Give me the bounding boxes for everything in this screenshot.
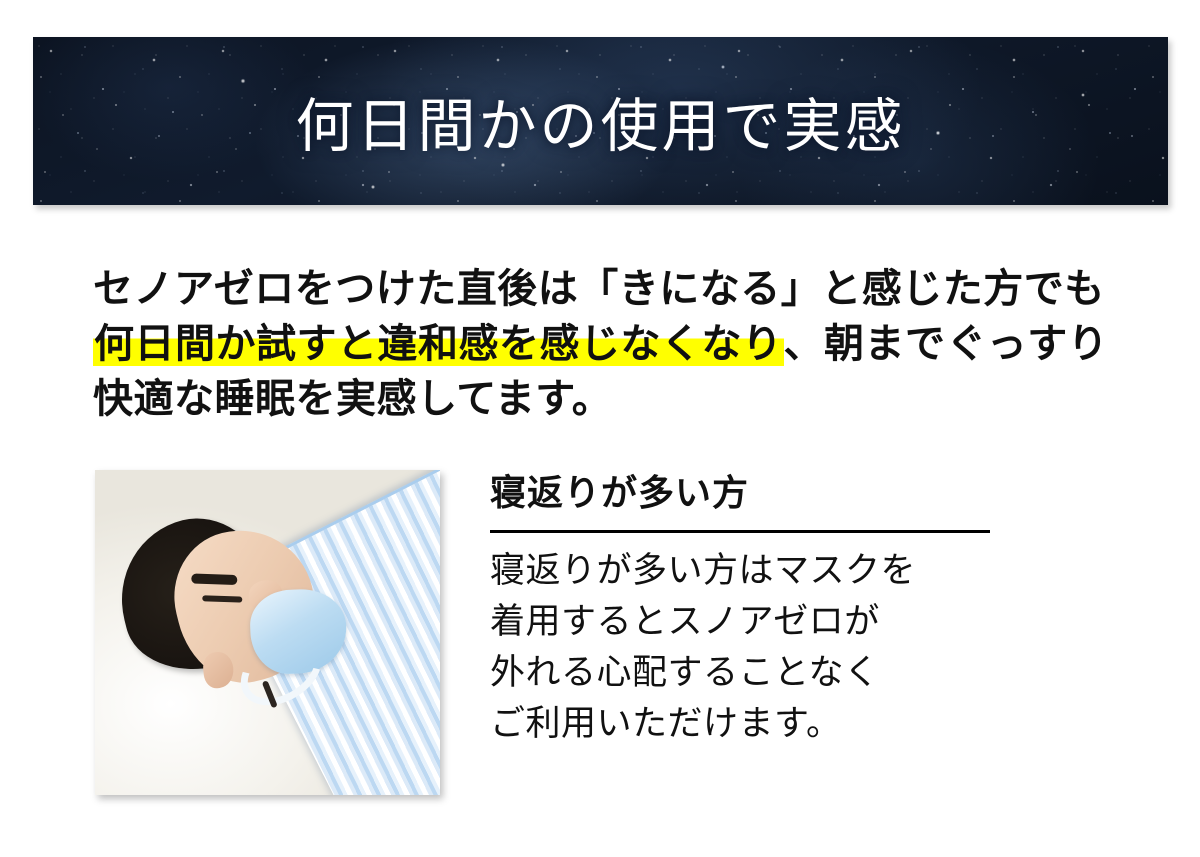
header-banner: 何日間かの使用で実感 [33, 37, 1168, 205]
intro-paragraph: セノアゼロをつけた直後は「きになる」と感じた方でも 何日間か試すと違和感を感じな… [93, 262, 1123, 427]
intro-line-2-rest: 、朝までぐっすり [784, 322, 1109, 366]
intro-line-2: 何日間か試すと違和感を感じなくなり、朝までぐっすり [93, 317, 1123, 372]
right-body-line-2: 着用するとスノアゼロが [490, 596, 1000, 647]
eyebrow [191, 573, 237, 585]
right-body-line-1: 寝返りが多い方はマスクを [490, 545, 1000, 596]
section-heading: 寝返りが多い方 [490, 470, 1000, 516]
right-body-text: 寝返りが多い方はマスクを 着用するとスノアゼロが 外れる心配することなく ご利用… [490, 545, 1000, 749]
photo-scene [95, 470, 440, 795]
right-body-line-3: 外れる心配することなく [490, 647, 1000, 698]
heading-divider [490, 530, 990, 533]
sleeping-man-photo [95, 470, 440, 795]
intro-highlight-text: 何日間か試すと違和感を感じなくなり [93, 322, 784, 366]
banner-title: 何日間かの使用で実感 [33, 37, 1168, 205]
right-text-column: 寝返りが多い方 寝返りが多い方はマスクを 着用するとスノアゼロが 外れる心配する… [490, 470, 1000, 749]
right-body-line-4: ご利用いただけます。 [490, 698, 1000, 749]
intro-line-1: セノアゼロをつけた直後は「きになる」と感じた方でも [93, 262, 1123, 317]
intro-line-3: 快適な睡眠を実感してます。 [93, 372, 1123, 427]
